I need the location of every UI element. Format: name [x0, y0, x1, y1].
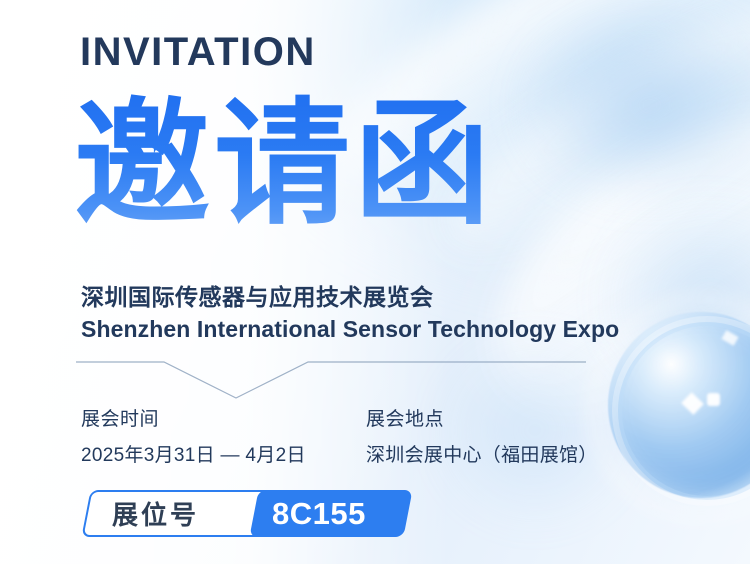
booth-number-badge: 展位号 8C155 — [86, 490, 408, 537]
page-title: 邀请函 — [74, 80, 594, 248]
detail-place-value: 深圳会展中心（福田展馆） — [366, 440, 598, 467]
detail-place-label: 展会地点 — [366, 404, 598, 431]
detail-time-value: 2025年3月31日 — 4月2日 — [81, 440, 306, 467]
event-name-english: Shenzhen International Sensor Technology… — [81, 316, 619, 343]
detail-time-label: 展会时间 — [81, 404, 306, 431]
detail-time: 展会时间 2025年3月31日 — 4月2日 — [81, 404, 306, 467]
detail-place: 展会地点 深圳会展中心（福田展馆） — [366, 404, 598, 467]
big-title-wrapper: 邀请函 — [74, 80, 594, 250]
chevron-divider — [76, 356, 586, 402]
chevron-divider-icon — [76, 356, 586, 402]
booth-badge-value: 8C155 — [272, 490, 366, 537]
eyebrow-invitation: INVITATION — [80, 32, 316, 72]
poster-content: INVITATION 邀请函 深圳国际传感器与应用技术展览会 Shenzhen … — [0, 0, 750, 564]
invitation-poster: INVITATION 邀请函 深圳国际传感器与应用技术展览会 Shenzhen … — [0, 0, 750, 564]
booth-badge-label: 展位号 — [112, 490, 199, 537]
event-name-chinese: 深圳国际传感器与应用技术展览会 — [81, 278, 434, 312]
